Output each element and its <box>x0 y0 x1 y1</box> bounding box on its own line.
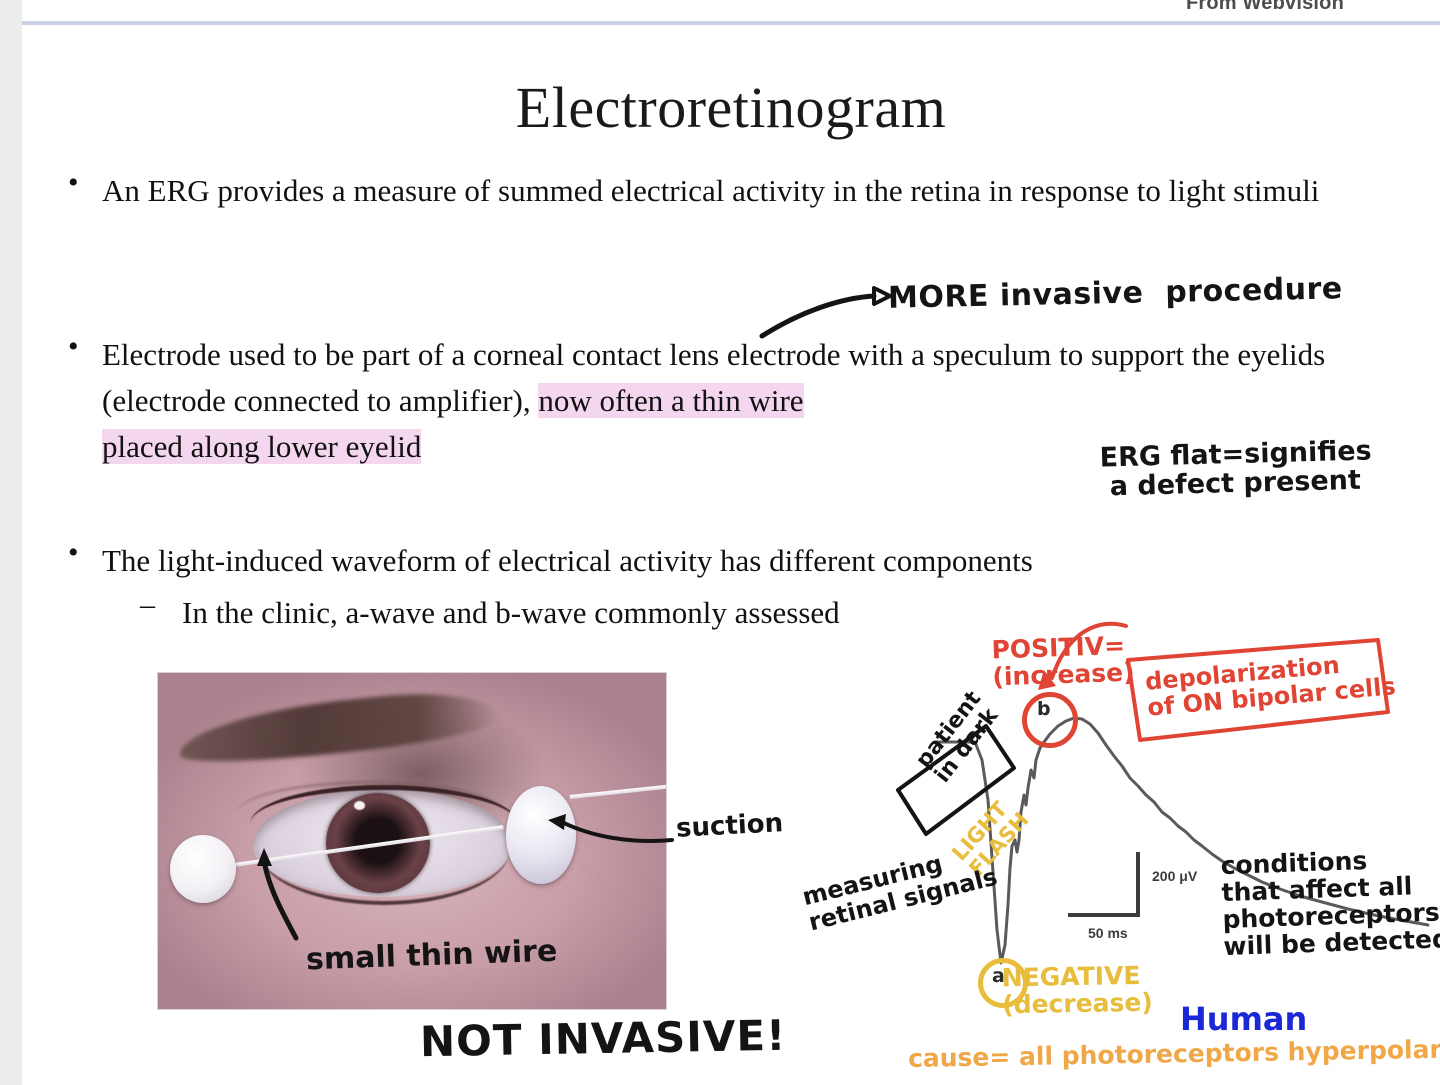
electrode-lead-wire <box>570 785 667 799</box>
electrode-disc-right <box>506 786 576 884</box>
scale-bar-time-label: 50 ms <box>1088 925 1128 941</box>
annotation-erg-flat: ERG flat=signifies a defect present <box>1099 436 1373 501</box>
corneal-reflection-glint <box>354 801 365 810</box>
annotation-suction: suction <box>675 809 783 843</box>
bullet-text: An ERG provides a measure of summed elec… <box>102 168 1319 214</box>
bullet-text: The light-induced waveform of electrical… <box>102 538 1033 584</box>
electrode-disc-left <box>170 835 236 903</box>
page-title: Electroretinogram <box>22 74 1440 141</box>
scale-bar-voltage-label: 200 μV <box>1152 868 1197 884</box>
human-species-label: Human <box>1180 1000 1307 1038</box>
bullet-text-highlight-2: placed along lower eyelid <box>102 429 421 464</box>
bullet-marker: • <box>68 332 102 362</box>
sub-bullet-marker: – <box>140 590 182 620</box>
bullet-marker: • <box>68 168 102 198</box>
eyebrow <box>176 684 500 769</box>
page-left-gutter <box>0 0 22 1085</box>
annotation-conditions-detected: conditions that affect all photoreceptor… <box>1220 844 1440 960</box>
annotation-positive-increase: POSITIV= (increase) <box>991 632 1135 691</box>
bullet-text-highlight-1: now often a thin wire <box>538 383 803 418</box>
sub-bullet-text: In the clinic, a-wave and b-wave commonl… <box>182 590 840 636</box>
a-wave-label: a <box>992 965 1005 987</box>
annotation-not-invasive: NOT INVASIVE! <box>420 1013 787 1065</box>
bullet-item-3: • The light-induced waveform of electric… <box>68 538 1398 584</box>
bullet-item-1: • An ERG provides a measure of summed el… <box>68 168 1368 214</box>
sub-bullet-item-1: – In the clinic, a-wave and b-wave commo… <box>140 590 1340 636</box>
bullet-marker: • <box>68 538 102 568</box>
b-wave-label: b <box>1037 698 1051 720</box>
slide-divider <box>22 21 1440 25</box>
previous-slide-caption: From Webvision <box>1135 0 1395 15</box>
